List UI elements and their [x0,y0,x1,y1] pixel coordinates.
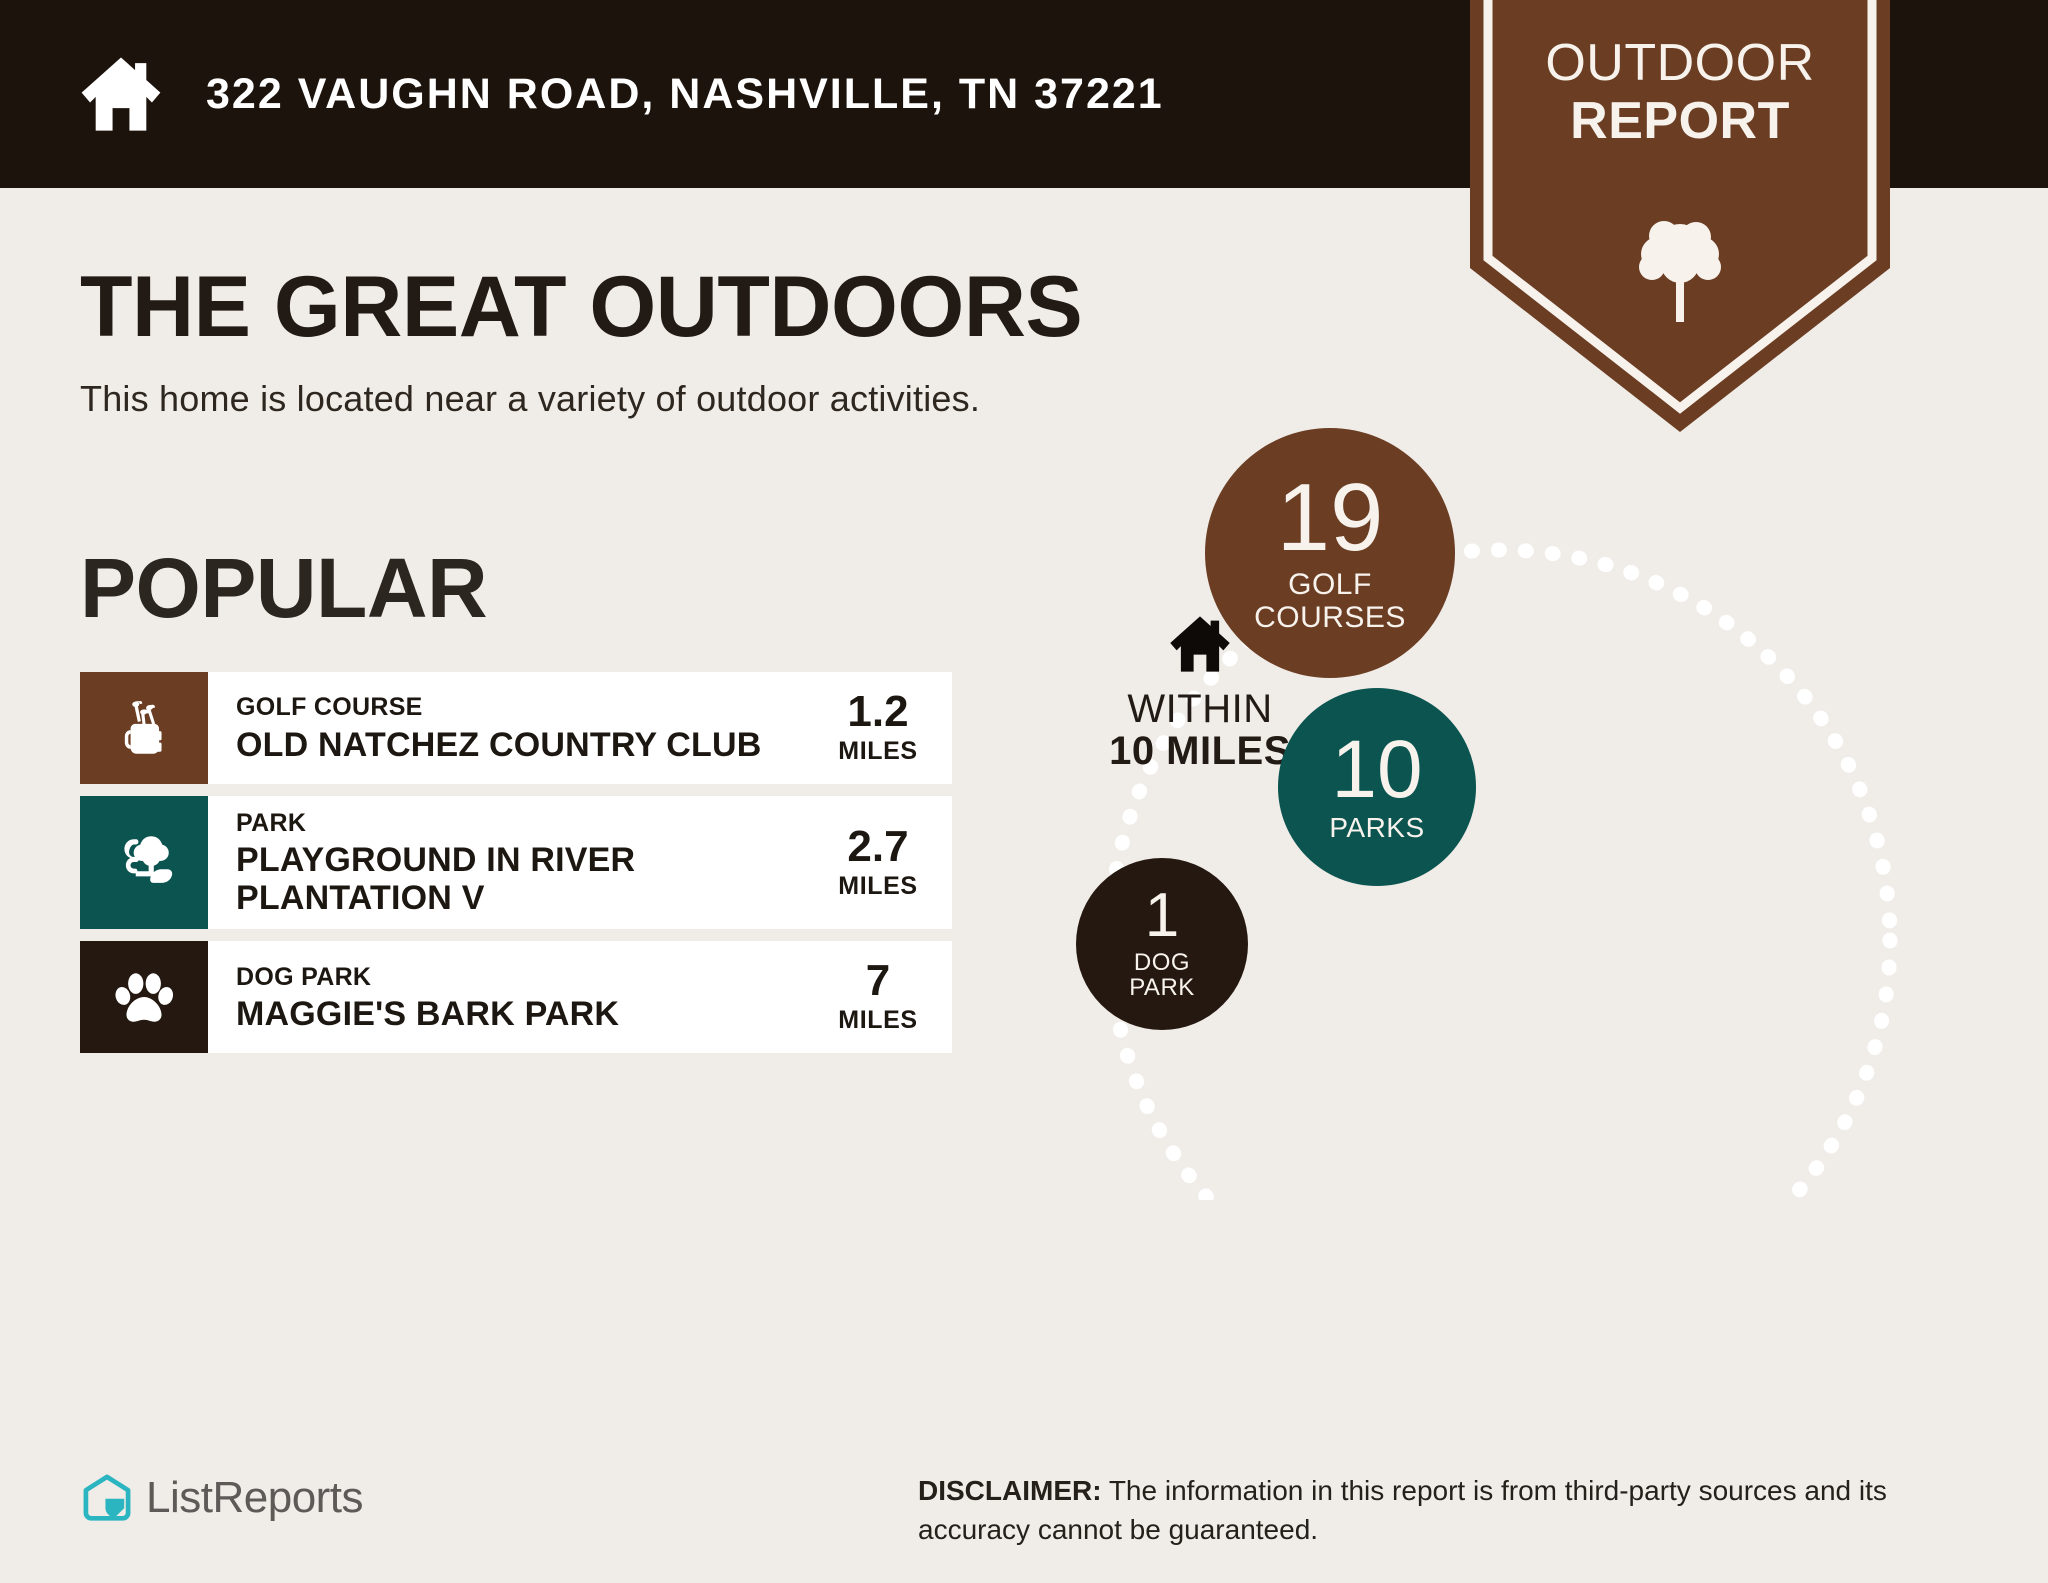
distance-unit: MILES [826,1006,930,1035]
page-title: THE GREAT OUTDOORS [80,258,1082,357]
stat-label-line2: PARK [1129,975,1195,1001]
park-tree-icon [111,830,177,896]
stat-label: DOG PARK [1129,950,1195,1002]
popular-heading: POPULAR [80,540,487,637]
distance-value: 1.2 [826,690,930,734]
outdoor-report-badge: OUTDOOR REPORT [1470,0,1890,432]
badge-line2: REPORT [1470,92,1890,150]
list-item-distance: 7 MILES [826,959,944,1035]
stat-circle-golf-courses[interactable]: 19 GOLF COURSES [1205,428,1455,678]
list-item-distance: 2.7 MILES [826,825,944,901]
paw-print-icon-tile [80,941,208,1053]
page-subtitle: This home is located near a variety of o… [80,378,980,420]
list-item-category: DOG PARK [236,962,826,993]
list-item-category: PARK [236,808,826,839]
list-item[interactable]: PARK PLAYGROUND IN RIVER PLANTATION V 2.… [80,796,952,929]
stat-label-line1: PARKS [1329,813,1424,843]
home-icon [0,49,166,139]
badge-line1: OUTDOOR [1545,34,1814,92]
distance-unit: MILES [826,737,930,766]
golf-bag-icon [111,695,177,761]
stat-label-line1: GOLF [1254,569,1406,601]
stat-value: 19 [1277,472,1384,563]
stat-value: 10 [1331,731,1422,809]
badge-title: OUTDOOR REPORT [1470,34,1890,150]
listreports-logo[interactable]: ListReports [82,1473,363,1523]
stat-label-line1: DOG [1129,950,1195,976]
disclaimer: DISCLAIMER: The information in this repo… [918,1472,1988,1549]
list-item-category: GOLF COURSE [236,692,826,723]
golf-bag-icon-tile [80,672,208,784]
within-10-miles-diagram: WITHIN 10 MILES 19 GOLF COURSES 10 PARKS… [1080,440,2040,1200]
stat-label: GOLF COURSES [1254,569,1406,634]
list-item[interactable]: GOLF COURSE OLD NATCHEZ COUNTRY CLUB 1.2… [80,672,952,784]
distance-value: 7 [826,959,930,1003]
list-item-name: PLAYGROUND IN RIVER PLANTATION V [236,841,826,917]
stat-value: 1 [1145,887,1179,946]
listreports-house-icon [82,1473,132,1523]
stat-label-line2: COURSES [1254,602,1406,634]
listreports-wordmark: ListReports [146,1473,363,1523]
stat-circle-dog-park[interactable]: 1 DOG PARK [1076,858,1248,1030]
paw-print-icon [111,964,177,1030]
list-item-name: OLD NATCHEZ COUNTRY CLUB [236,726,826,764]
list-item-distance: 1.2 MILES [826,690,944,766]
stat-label: PARKS [1329,813,1424,843]
popular-list: GOLF COURSE OLD NATCHEZ COUNTRY CLUB 1.2… [80,672,952,1065]
list-item-name: MAGGIE'S BARK PARK [236,995,826,1033]
disclaimer-label: DISCLAIMER: [918,1475,1102,1506]
park-tree-icon-tile [80,796,208,929]
list-item[interactable]: DOG PARK MAGGIE'S BARK PARK 7 MILES [80,941,952,1053]
header-address: 322 VAUGHN ROAD, NASHVILLE, TN 37221 [206,70,1164,119]
distance-value: 2.7 [826,825,930,869]
stat-circle-parks[interactable]: 10 PARKS [1278,688,1476,886]
distance-unit: MILES [826,872,930,901]
